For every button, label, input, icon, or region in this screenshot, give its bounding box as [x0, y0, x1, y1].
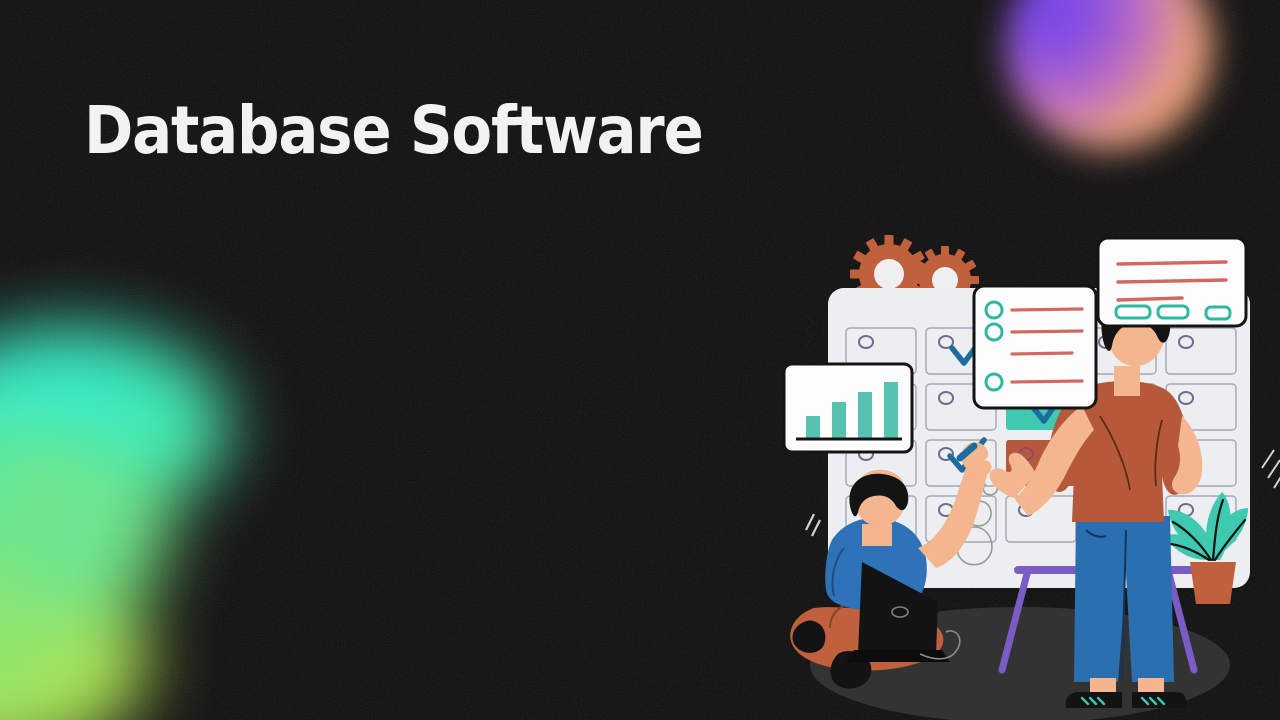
gradient-blob — [0, 300, 370, 720]
gradient-orb — [1005, 0, 1213, 150]
gradient-blob-lobe — [0, 555, 150, 720]
bar-chart-card — [784, 364, 912, 452]
gradient-blob-lobe — [0, 450, 170, 620]
checklist-row — [1012, 353, 1072, 354]
gradient-blob-lobe — [0, 326, 230, 526]
slide-canvas: Database Software — [0, 0, 1280, 720]
form-card — [1098, 238, 1246, 326]
card-line — [1118, 262, 1226, 264]
card-line — [1118, 280, 1226, 282]
card-line — [1118, 298, 1182, 300]
page-title: Database Software — [84, 92, 703, 169]
team-planning-board-illustration — [770, 230, 1280, 720]
diagonal-lines-decoration — [806, 514, 820, 536]
squiggle-decoration — [805, 314, 814, 354]
gradient-blob-lobe — [0, 420, 140, 650]
shoe — [1066, 692, 1122, 708]
checklist-card — [974, 286, 1096, 408]
diagonal-lines-decoration — [1262, 450, 1280, 488]
